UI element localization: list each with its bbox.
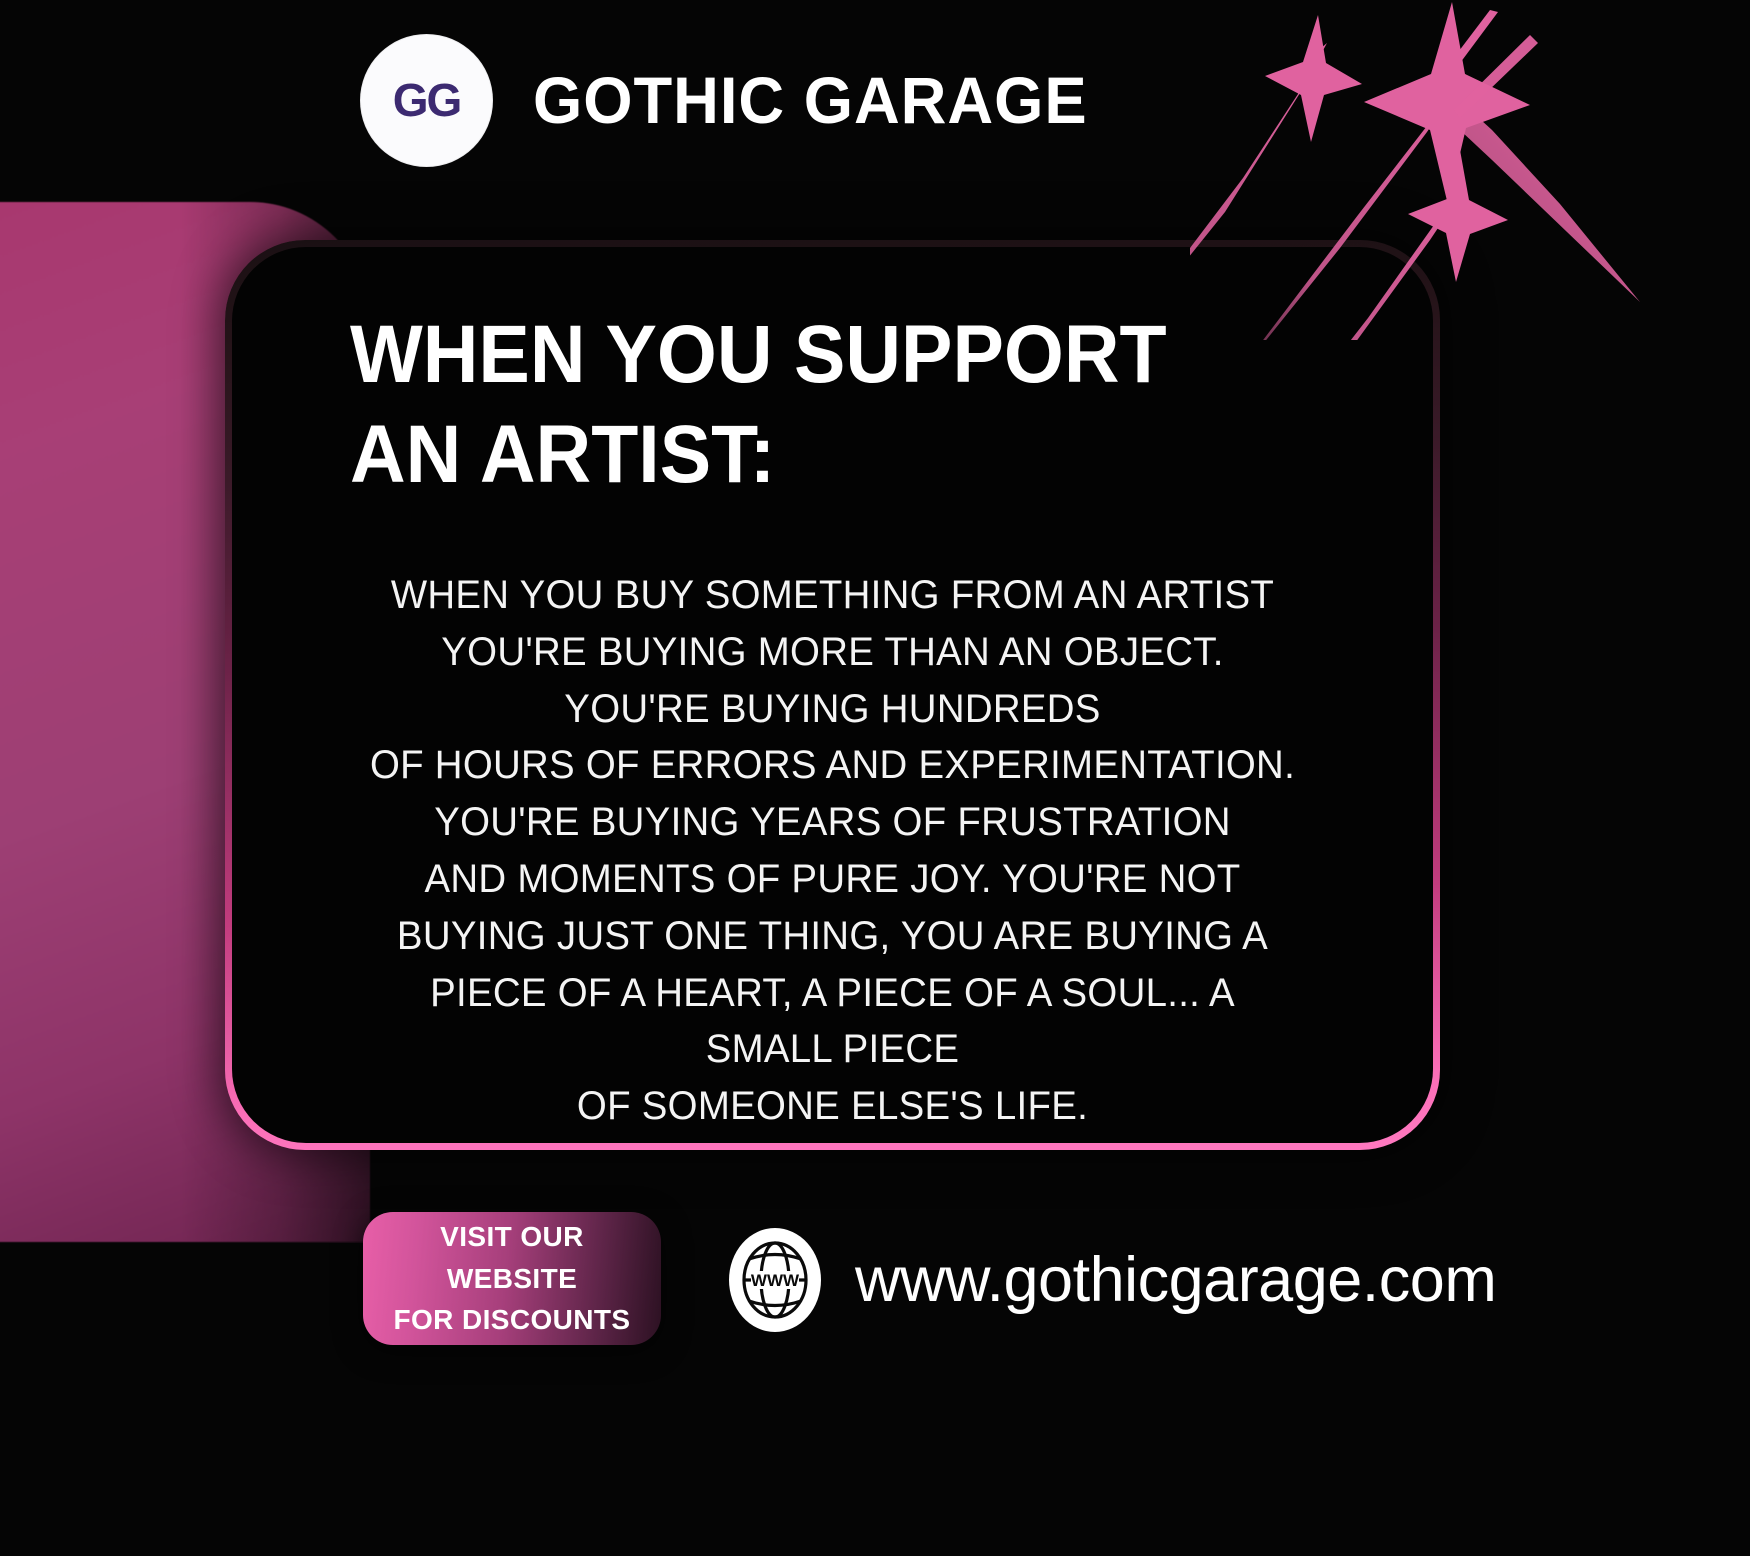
footer-bar: VISIT OUR WEBSITE FOR DISCOUNTS WWW www.… [0, 1190, 1750, 1556]
brand-header: GG GOTHIC GARAGE [0, 0, 1750, 200]
quote-card-border: WHEN YOU SUPPORT AN ARTIST: WHEN YOU BUY… [225, 240, 1440, 1150]
website-url-text[interactable]: www.gothicgarage.com [855, 1244, 1496, 1316]
visit-website-button[interactable]: VISIT OUR WEBSITE FOR DISCOUNTS [363, 1212, 661, 1345]
globe-icon: WWW [729, 1228, 821, 1332]
logo-monogram: GG [393, 73, 461, 127]
logo-badge[interactable]: GG [360, 34, 493, 167]
globe-www-label: WWW [751, 1271, 800, 1290]
brand-name: GOTHIC GARAGE [533, 62, 1088, 138]
quote-card: WHEN YOU SUPPORT AN ARTIST: WHEN YOU BUY… [232, 247, 1433, 1143]
website-row[interactable]: WWW www.gothicgarage.com [729, 1228, 1496, 1332]
card-quote-text: WHEN YOU BUY SOMETHING FROM AN ARTIST YO… [323, 567, 1342, 1135]
card-headline: WHEN YOU SUPPORT AN ARTIST: [350, 305, 1302, 505]
